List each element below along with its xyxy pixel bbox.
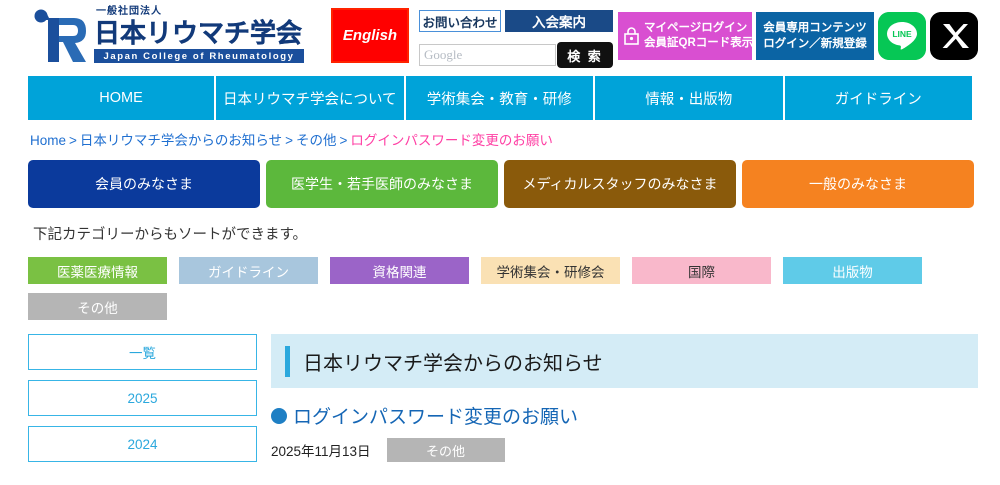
category-international[interactable]: 国際 <box>632 257 771 284</box>
news-title: ログインパスワード変更のお願い <box>293 402 578 429</box>
sidebar-item-2025[interactable]: 2025 <box>28 380 257 416</box>
x-twitter-icon[interactable] <box>930 12 978 60</box>
bullet-icon <box>271 408 287 424</box>
audience-members[interactable]: 会員のみなさま <box>28 160 260 208</box>
main-column: 日本リウマチ学会からのお知らせ ログインパスワード変更のお願い 2025年11月… <box>271 334 978 472</box>
category-other[interactable]: その他 <box>28 293 167 320</box>
sidebar-item-2024[interactable]: 2024 <box>28 426 257 462</box>
news-meta-row: 2025年11月13日 その他 <box>271 438 978 462</box>
global-navigation: HOME 日本リウマチ学会について 学術集会・教育・研修 情報・出版物 ガイドラ… <box>28 76 972 120</box>
mypage-login-line2: 会員証QRコード表示 <box>644 36 753 51</box>
search-input[interactable] <box>419 44 556 66</box>
lock-icon <box>624 27 639 45</box>
section-header: 日本リウマチ学会からのお知らせ <box>271 334 978 388</box>
logo-name-en: Japan College of Rheumatology <box>94 49 304 63</box>
nav-item-meetings[interactable]: 学術集会・教育・研修 <box>406 76 594 120</box>
breadcrumb-home[interactable]: Home <box>30 133 66 148</box>
category-publications[interactable]: 出版物 <box>783 257 922 284</box>
news-item: ログインパスワード変更のお願い 2025年11月13日 その他 <box>271 402 978 462</box>
audience-medical-staff[interactable]: メディカルスタッフのみなさま <box>504 160 736 208</box>
breadcrumb-separator-2: > <box>285 133 293 148</box>
sidebar-item-all[interactable]: 一覧 <box>28 334 257 370</box>
member-login-line2: ログイン／新規登録 <box>763 36 867 52</box>
category-meetings[interactable]: 学術集会・研修会 <box>481 257 620 284</box>
breadcrumb: Home>日本リウマチ学会からのお知らせ>その他>ログインパスワード変更のお願い <box>30 129 1000 149</box>
member-content-login-button[interactable]: 会員専用コンテンツ ログイン／新規登録 <box>756 12 874 60</box>
nav-item-publications[interactable]: 情報・出版物 <box>595 76 783 120</box>
contact-button[interactable]: お問い合わせ <box>419 10 501 32</box>
news-date: 2025年11月13日 <box>271 440 371 460</box>
category-medical-info[interactable]: 医薬医療情報 <box>28 257 167 284</box>
search-button[interactable]: 検 索 <box>557 42 613 68</box>
logo-name-ja: 日本リウマチ学会 <box>94 18 304 48</box>
audience-public[interactable]: 一般のみなさま <box>742 160 974 208</box>
section-accent-bar <box>285 346 290 377</box>
breadcrumb-level3[interactable]: その他 <box>296 133 337 148</box>
page-title: 日本リウマチ学会からのお知らせ <box>303 347 603 376</box>
sort-note: 下記カテゴリーからもソートができます。 <box>33 223 1000 244</box>
news-title-row[interactable]: ログインパスワード変更のお願い <box>271 402 978 429</box>
breadcrumb-level2[interactable]: 日本リウマチ学会からのお知らせ <box>80 133 282 148</box>
jcr-logo-icon <box>28 6 90 64</box>
breadcrumb-separator-3: > <box>340 133 348 148</box>
category-guidelines[interactable]: ガイドライン <box>179 257 318 284</box>
nav-item-home[interactable]: HOME <box>28 76 214 120</box>
category-certification[interactable]: 資格関連 <box>330 257 469 284</box>
svg-text:LINE: LINE <box>892 29 912 39</box>
news-category-badge: その他 <box>387 438 505 462</box>
category-filter-row: 医薬医療情報 ガイドライン 資格関連 学術集会・研修会 国際 出版物 その他 <box>28 257 978 320</box>
nav-item-about[interactable]: 日本リウマチ学会について <box>216 76 404 120</box>
nav-item-guidelines[interactable]: ガイドライン <box>785 76 973 120</box>
breadcrumb-current: ログインパスワード変更のお願い <box>350 133 553 148</box>
year-filter-sidebar: 一覧 2025 2024 <box>28 334 257 472</box>
breadcrumb-separator-1: > <box>69 133 77 148</box>
english-language-button[interactable]: English <box>331 8 409 63</box>
audience-students[interactable]: 医学生・若手医師のみなさま <box>266 160 498 208</box>
site-header: 一般社団法人 日本リウマチ学会 Japan College of Rheumat… <box>0 0 1000 72</box>
line-icon[interactable]: LINE <box>878 12 926 60</box>
member-login-line1: 会員専用コンテンツ <box>763 20 867 36</box>
content-area: 一覧 2025 2024 日本リウマチ学会からのお知らせ ログインパスワード変更… <box>28 334 978 472</box>
logo-corporate-type: 一般社団法人 <box>96 6 304 18</box>
mypage-login-line1: マイページログイン <box>644 21 753 36</box>
site-logo[interactable]: 一般社団法人 日本リウマチ学会 Japan College of Rheumat… <box>28 6 304 64</box>
mypage-login-button[interactable]: マイページログイン 会員証QRコード表示 <box>618 12 752 60</box>
join-guide-button[interactable]: 入会案内 <box>505 10 613 32</box>
audience-button-row: 会員のみなさま 医学生・若手医師のみなさま メディカルスタッフのみなさま 一般の… <box>28 160 974 208</box>
